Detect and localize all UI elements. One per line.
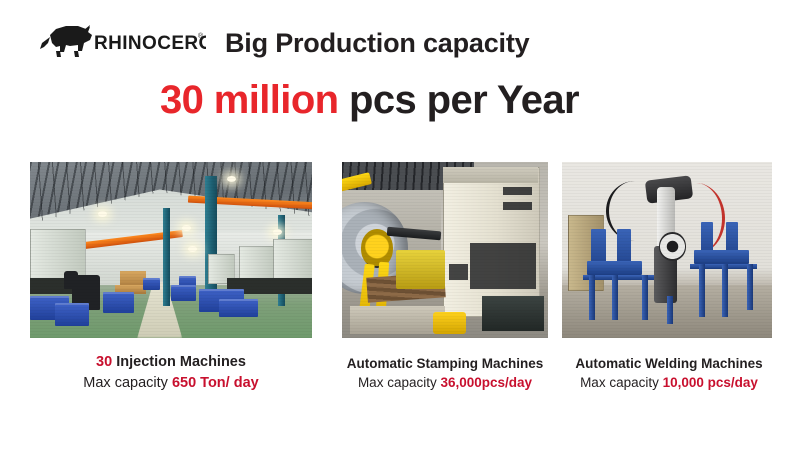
headline-unit: pcs per Year bbox=[339, 78, 580, 122]
injection-capacity-value: 650 Ton/ day bbox=[172, 375, 259, 391]
logo-trademark: ® bbox=[198, 32, 204, 40]
caption-injection: 30 Injection Machines Max capacity 650 T… bbox=[30, 352, 312, 393]
injection-capacity-label: Max capacity bbox=[83, 375, 172, 391]
page-title: Big Production capacity bbox=[225, 28, 785, 59]
caption-stamping-line2: Max capacity 36,000pcs/day bbox=[335, 373, 555, 392]
logo-wordmark: RHINOCEROS bbox=[94, 33, 206, 54]
automatic-stamping-machine-photo bbox=[342, 162, 548, 338]
automatic-welding-robot-photo bbox=[562, 162, 772, 338]
photo-1-scene bbox=[30, 162, 312, 338]
welding-machine-label: Automatic Welding Machines bbox=[575, 356, 762, 371]
photo-3-scene bbox=[562, 162, 772, 338]
rhinoceros-logo: RHINOCEROS ® bbox=[26, 20, 206, 62]
photo-2-scene bbox=[342, 162, 548, 338]
caption-welding-line1: Automatic Welding Machines bbox=[558, 354, 780, 373]
caption-welding-line2: Max capacity 10,000 pcs/day bbox=[558, 373, 780, 392]
rhinoceros-icon bbox=[40, 25, 92, 57]
injection-moulding-workshop-photo bbox=[30, 162, 312, 338]
welding-capacity-value: 10,000 pcs/day bbox=[663, 375, 758, 390]
caption-injection-line2: Max capacity 650 Ton/ day bbox=[30, 373, 312, 394]
headline-quantity: 30 million bbox=[160, 78, 339, 122]
caption-injection-line1: 30 Injection Machines bbox=[30, 352, 312, 373]
stamping-machine-label: Automatic Stamping Machines bbox=[347, 356, 544, 371]
caption-stamping-line1: Automatic Stamping Machines bbox=[335, 354, 555, 373]
caption-welding: Automatic Welding Machines Max capacity … bbox=[558, 354, 780, 392]
headline: 30 million pcs per Year bbox=[160, 78, 780, 123]
caption-stamping: Automatic Stamping Machines Max capacity… bbox=[335, 354, 555, 392]
stamping-capacity-value: 36,000pcs/day bbox=[440, 375, 532, 390]
stamping-capacity-label: Max capacity bbox=[358, 375, 441, 390]
injection-machine-count: 30 bbox=[96, 354, 112, 370]
injection-machine-label: Injection Machines bbox=[112, 354, 246, 370]
slide-canvas: RHINOCEROS ® Big Production capacity 30 … bbox=[0, 0, 800, 450]
welding-capacity-label: Max capacity bbox=[580, 375, 663, 390]
